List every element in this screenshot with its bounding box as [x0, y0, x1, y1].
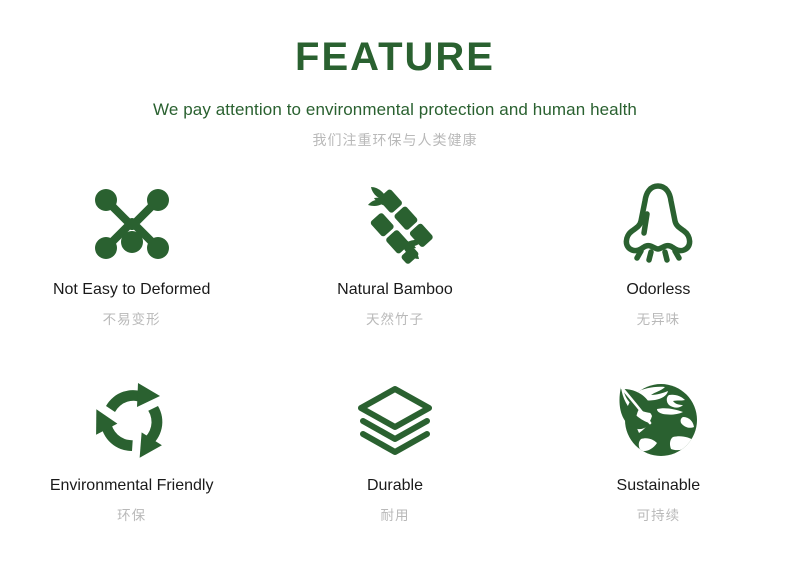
- nose-icon: [620, 174, 696, 274]
- feature-label-en: Sustainable: [617, 476, 701, 495]
- layers-stack-icon: [355, 370, 435, 470]
- feature-item-environmental-friendly: Environmental Friendly 环保: [0, 370, 263, 566]
- recycle-icon: [90, 370, 174, 470]
- nodes-x-icon: [92, 174, 172, 274]
- feature-item-natural-bamboo: Natural Bamboo 天然竹子: [263, 174, 526, 370]
- feature-label-cn: 可持续: [637, 504, 681, 524]
- feature-label-cn: 天然竹子: [366, 308, 424, 328]
- feature-label-cn: 环保: [117, 504, 146, 524]
- feature-label-cn: 不易变形: [103, 308, 161, 328]
- feature-label-en: Odorless: [626, 280, 690, 299]
- globe-leaf-icon: [617, 370, 699, 470]
- section-header: FEATURE We pay attention to environmenta…: [0, 0, 790, 150]
- feature-item-durable: Durable 耐用: [263, 370, 526, 566]
- feature-label-cn: 无异味: [637, 308, 681, 328]
- page-title: FEATURE: [0, 36, 790, 78]
- feature-label-cn: 耐用: [380, 504, 409, 524]
- bamboo-icon: [355, 174, 435, 274]
- feature-item-not-easy-to-deformed: Not Easy to Deformed 不易变形: [0, 174, 263, 370]
- feature-label-en: Durable: [367, 476, 423, 495]
- subtitle-english: We pay attention to environmental protec…: [0, 100, 790, 120]
- subtitle-chinese: 我们注重环保与人类健康: [0, 130, 790, 150]
- feature-item-odorless: Odorless 无异味: [527, 174, 790, 370]
- feature-item-sustainable: Sustainable 可持续: [527, 370, 790, 566]
- feature-label-en: Natural Bamboo: [337, 280, 453, 299]
- feature-label-en: Not Easy to Deformed: [53, 280, 210, 299]
- feature-section: FEATURE We pay attention to environmenta…: [0, 0, 790, 576]
- feature-label-en: Environmental Friendly: [50, 476, 214, 495]
- feature-grid: Not Easy to Deformed 不易变形: [0, 174, 790, 566]
